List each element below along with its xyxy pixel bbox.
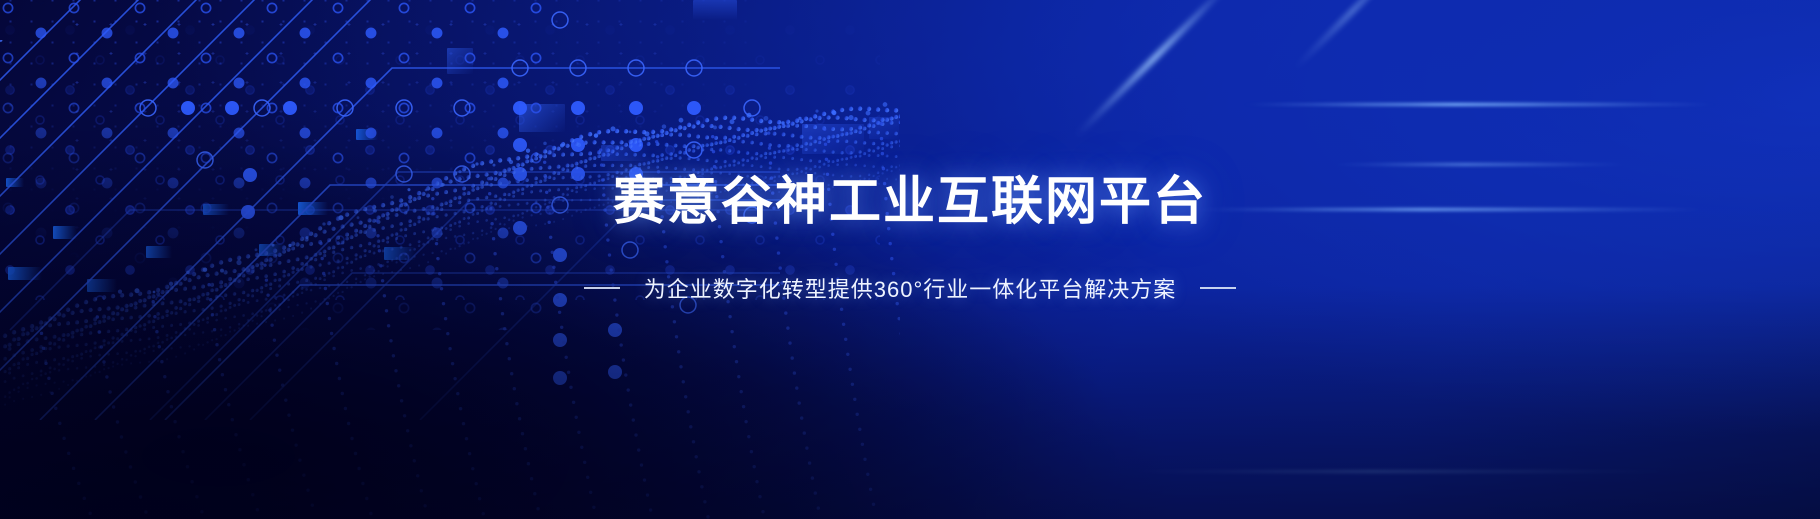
- subtitle-row: 为企业数字化转型提供360°行业一体化平台解决方案: [584, 272, 1237, 304]
- banner-content: 赛意谷神工业互联网平台 为企业数字化转型提供360°行业一体化平台解决方案: [0, 0, 1820, 519]
- page-title: 赛意谷神工业互联网平台: [613, 176, 1207, 228]
- hero-banner: 赛意谷神工业互联网平台 为企业数字化转型提供360°行业一体化平台解决方案: [0, 0, 1820, 519]
- rule-left-icon: [584, 287, 620, 289]
- page-subtitle: 为企业数字化转型提供360°行业一体化平台解决方案: [644, 272, 1177, 304]
- rule-right-icon: [1200, 287, 1236, 289]
